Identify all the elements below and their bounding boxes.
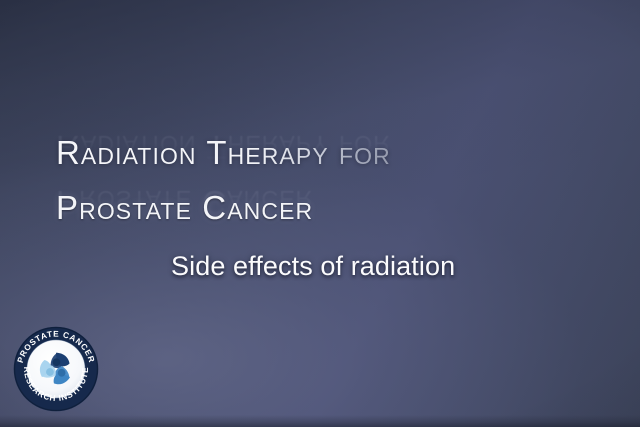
background-bottom-edge	[0, 415, 640, 427]
prostate-cancer-research-institute-logo: PROSTATE CANCER RESEARCH INSTITUTE	[11, 324, 101, 414]
title-line-2: Prostate Cancer Prostate Cancer	[56, 188, 616, 234]
title-slide: Radiation Therapy for Radiation Therapy …	[0, 0, 640, 427]
subtitle-text: Side effects of radiation	[171, 250, 455, 282]
title-line-2-text: Prostate Cancer	[56, 188, 313, 228]
title-line-1: Radiation Therapy for Radiation Therapy …	[56, 133, 616, 179]
title-block: Radiation Therapy for Radiation Therapy …	[56, 133, 616, 234]
title-line-1-text: Radiation Therapy for	[56, 133, 391, 173]
